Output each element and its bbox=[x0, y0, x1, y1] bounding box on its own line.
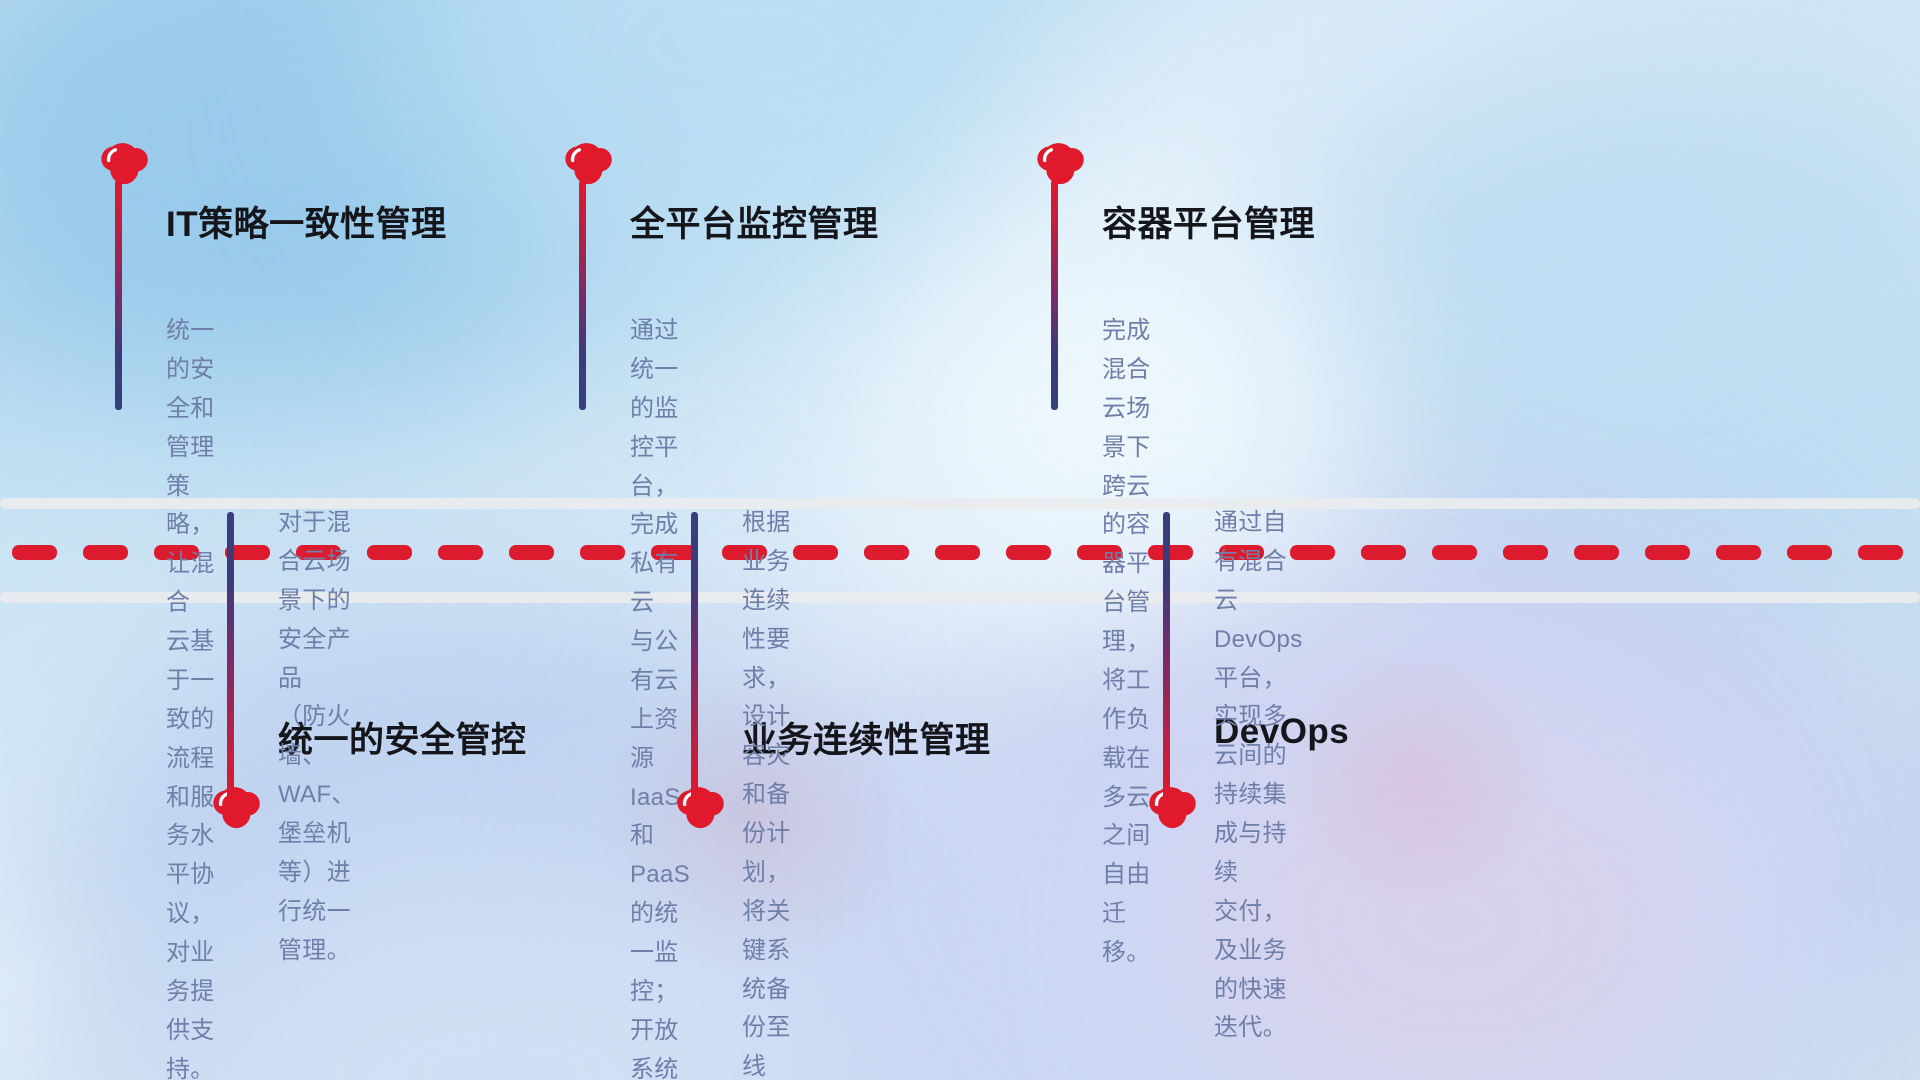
road-dash-segment bbox=[864, 545, 909, 560]
road-dash-segment bbox=[1645, 545, 1690, 560]
marker-description: 对于混合云场景下的安全产品 （防火墙、WAF、堡垒机等）进 行统一管理。 bbox=[278, 504, 356, 971]
road-dash-segment bbox=[1006, 545, 1051, 560]
road-dash-segment bbox=[12, 545, 57, 560]
marker-stem-line bbox=[1051, 180, 1058, 410]
road-dash-segment bbox=[1503, 545, 1548, 560]
road-dash-segment bbox=[438, 545, 483, 560]
road-dash-segment bbox=[83, 545, 128, 560]
marker-title: 容器平台管理 bbox=[1102, 196, 1315, 247]
marker-stem-line bbox=[1163, 512, 1170, 800]
road-dash-segment bbox=[1787, 545, 1832, 560]
road-dash-segment bbox=[1432, 545, 1477, 560]
marker-title: 全平台监控管理 bbox=[630, 196, 879, 247]
road-dash-segment bbox=[1361, 545, 1406, 560]
road-dash-segment bbox=[509, 545, 554, 560]
cloud-pin-icon bbox=[1032, 140, 1090, 188]
cloud-pin-icon bbox=[1144, 784, 1202, 832]
road-dash-segment bbox=[1574, 545, 1619, 560]
cloud-pin-icon bbox=[672, 784, 730, 832]
road-dash-segment bbox=[1858, 545, 1903, 560]
marker-stem-line bbox=[227, 512, 234, 800]
marker-stem-line bbox=[579, 180, 586, 410]
road-dash-segment bbox=[793, 545, 838, 560]
road-dash-segment bbox=[1716, 545, 1761, 560]
cloud-pin-icon bbox=[96, 140, 154, 188]
marker-description: 统一的安全和管理策略，让混合 云基于一致的流程和服务水平协 议，对业务提供支持。 bbox=[166, 312, 215, 1080]
marker-description: 通过统一的监控平台，完成私有云 与公有云上资源IaaS和PaaS的统 一监控；开… bbox=[630, 312, 690, 1080]
road-dash-segment bbox=[580, 545, 625, 560]
marker-stem-line bbox=[115, 180, 122, 410]
cloud-pin-icon bbox=[560, 140, 618, 188]
road-dash-segment bbox=[367, 545, 412, 560]
marker-stem-line bbox=[691, 512, 698, 800]
road-dash-segment bbox=[935, 545, 980, 560]
marker-description: 完成混合云场景下跨云的容器平 台管理，将工作负载在多云之间 自由迁移。 bbox=[1102, 312, 1151, 973]
marker-description: 根据业务连续性要求，设计容灾 和备份计划，将关键系统备份至 线上/线下，并定期校… bbox=[742, 504, 791, 1080]
road-dash-segment bbox=[1148, 545, 1193, 560]
background-speckle bbox=[1267, 648, 1567, 908]
marker-title: IT策略一致性管理 bbox=[166, 196, 447, 247]
cloud-pin-icon bbox=[208, 784, 266, 832]
marker-description: 通过自有混合云DevOps平台， 实现多云间的持续集成与持续 交付，及业务的快速… bbox=[1214, 504, 1303, 1048]
